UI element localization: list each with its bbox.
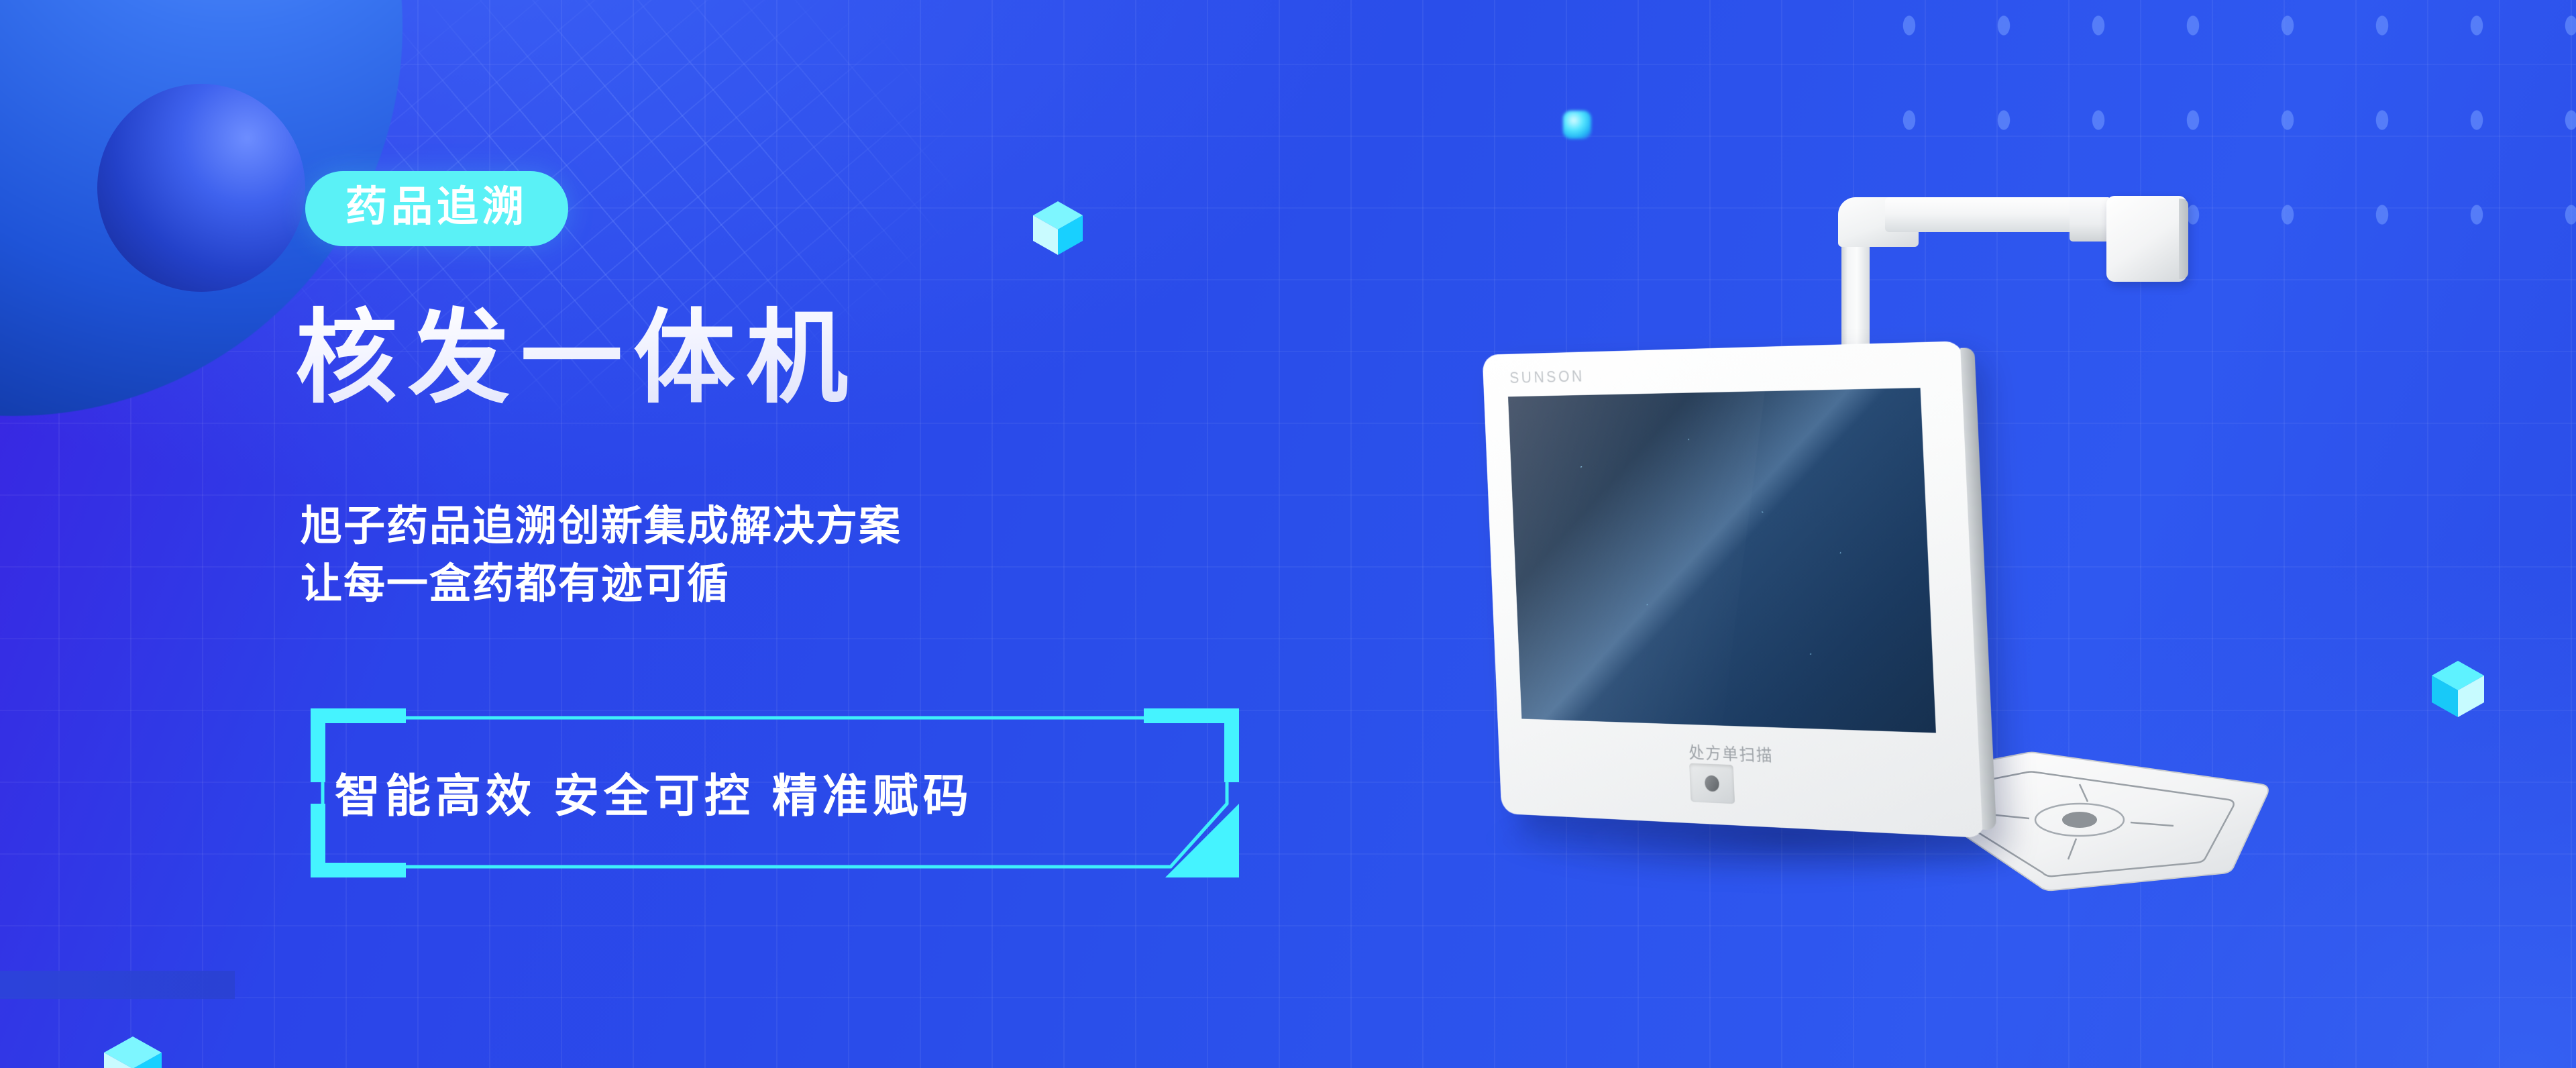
device-screen xyxy=(1508,388,1936,733)
device-brand-label: SUNSON xyxy=(1509,368,1585,387)
tagline-frame: 智能高效 安全可控 精准赋码 xyxy=(305,703,1244,881)
scanner-arm-joint xyxy=(2070,197,2111,242)
scanner-camera-head xyxy=(2106,196,2187,282)
tagline-text: 智能高效 安全可控 精准赋码 xyxy=(305,703,1244,881)
subtitle-block: 旭子药品追溯创新集成解决方案 让每一盒药都有迹可循 xyxy=(301,498,902,612)
scan-camera-icon xyxy=(1689,763,1735,804)
scan-area-label: 处方单扫描 xyxy=(1498,732,1982,774)
category-badge-label: 药品追溯 xyxy=(345,186,528,228)
scanner-arm-horizontal xyxy=(1885,197,2080,232)
page-title: 核发一体机 xyxy=(295,303,859,413)
tablet-device: SUNSON 处方单扫描 xyxy=(1483,341,1986,838)
product-device-illustration: SUNSON 处方单扫描 xyxy=(1442,168,2422,959)
subtitle-line-1: 旭子药品追溯创新集成解决方案 xyxy=(301,498,902,555)
promo-banner: 药品追溯 核发一体机 旭子药品追溯创新集成解决方案 让每一盒药都有迹可循 智能高… xyxy=(0,0,2576,1068)
category-badge: 药品追溯 xyxy=(305,171,568,246)
subtitle-line-2: 让每一盒药都有迹可循 xyxy=(301,555,902,613)
